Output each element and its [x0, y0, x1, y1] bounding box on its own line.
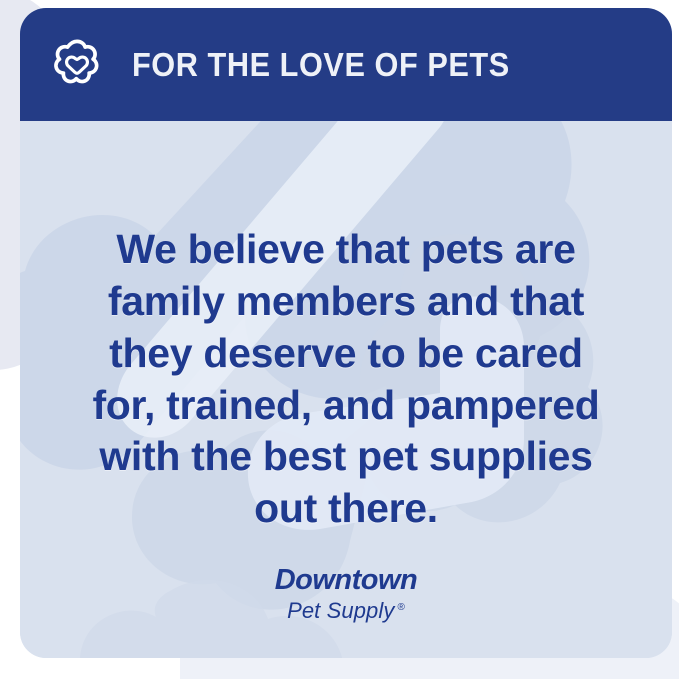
card-body: We believe that pets are family members … [20, 121, 672, 658]
header-title: FOR THE LOVE OF PETS [132, 48, 510, 81]
brand-logo: Downtown Pet Supply® [20, 566, 672, 622]
quote-line: for, trained, and pampered [54, 380, 638, 432]
poster-canvas: We believe that pets are family members … [0, 0, 679, 679]
brand-name-secondary: Pet Supply® [20, 600, 672, 622]
quote-line: with the best pet supplies [54, 431, 638, 483]
brand-name-primary: Downtown [20, 566, 672, 595]
brand-name-secondary-text: Pet Supply [287, 598, 394, 623]
quote-line: they deserve to be cared [54, 328, 638, 380]
card-header: FOR THE LOVE OF PETS [20, 8, 672, 121]
paw-heart-icon [49, 37, 105, 93]
registered-trademark-icon: ® [397, 602, 404, 613]
promo-card: We believe that pets are family members … [20, 8, 672, 658]
quote-line: family members and that [54, 276, 638, 328]
mission-statement: We believe that pets are family members … [20, 224, 672, 535]
quote-line: We believe that pets are [54, 224, 638, 276]
quote-line: out there. [54, 483, 638, 535]
